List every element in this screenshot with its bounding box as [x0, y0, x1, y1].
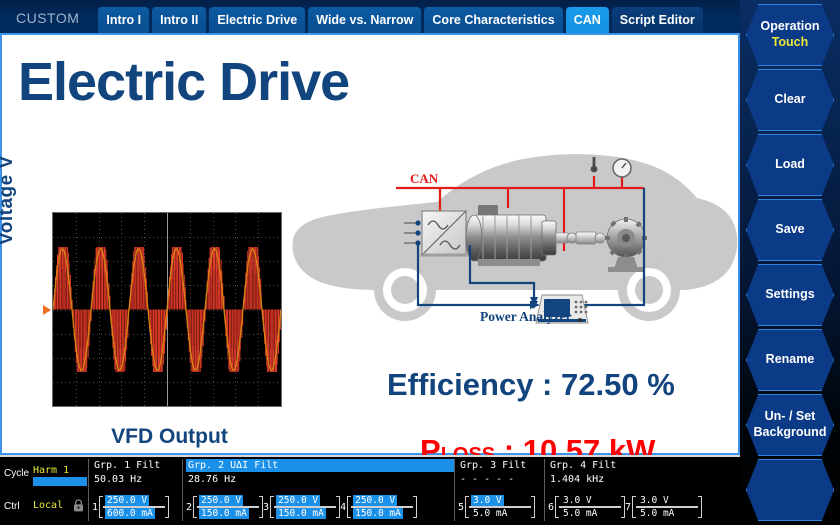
sidebar-button-operation[interactable]: OperationTouch [746, 4, 834, 66]
group-title: Grp. 2 UΔI Filt [186, 459, 454, 472]
ctrl-value[interactable]: Local [33, 500, 63, 511]
sidebar-button-clear[interactable]: Clear [746, 69, 834, 131]
channel[interactable]: 63.0 V5.0 mA [548, 495, 625, 519]
channel[interactable]: 1250.0 V600.0 mA [92, 495, 169, 519]
channel-current: 150.0 mA [353, 508, 403, 519]
tab-wide-vs-narrow[interactable]: Wide vs. Narrow [308, 7, 421, 33]
channel[interactable]: 3250.0 V150.0 mA [263, 495, 340, 519]
inverter [420, 211, 468, 257]
group-frequency: - - - - - [458, 474, 544, 485]
measurement-group[interactable]: Grp. 1 Filt50.03 Hz1250.0 V600.0 mA [92, 459, 182, 485]
channel-current: 600.0 mA [105, 508, 155, 519]
channel-voltage: 3.0 V [561, 495, 594, 506]
motor [466, 205, 568, 266]
scope-display[interactable] [52, 212, 282, 407]
sidebar-button-load[interactable]: Load [746, 134, 834, 196]
channel-voltage: 250.0 V [199, 495, 243, 506]
channel-voltage: 250.0 V [105, 495, 149, 506]
tab-can[interactable]: CAN [566, 7, 609, 33]
channel-current: 5.0 mA [561, 508, 599, 519]
channel-voltage: 250.0 V [276, 495, 320, 506]
status-bar-divider [0, 455, 740, 457]
ctrl-label: Ctrl [4, 501, 20, 512]
trigger-marker-icon [43, 305, 51, 315]
channel-current: 5.0 mA [638, 508, 676, 519]
status-bar: Cycle Harm 1 Ctrl Local Grp. 1 Filt50.03… [0, 455, 740, 525]
channel[interactable]: 73.0 V5.0 mA [625, 495, 702, 519]
sidebar-button-un-set[interactable]: Un- / SetBackground [746, 394, 834, 456]
status-separator [544, 459, 545, 521]
custom-label: CUSTOM [6, 10, 95, 33]
sidebar-button-line1: Operation [760, 19, 819, 35]
group-title: Grp. 4 Filt [548, 459, 736, 472]
lock-icon[interactable] [73, 499, 84, 512]
sidebar-button-line1: Load [775, 157, 805, 173]
channel-bracket-right [698, 496, 702, 518]
channel-current: 150.0 mA [199, 508, 249, 519]
sidebar-button-save[interactable]: Save [746, 199, 834, 261]
channel[interactable]: 2250.0 V150.0 mA [186, 495, 263, 519]
sidebar-button-rename[interactable]: Rename [746, 329, 834, 391]
sidebar-button-settings[interactable]: Settings [746, 264, 834, 326]
channel-current: 150.0 mA [276, 508, 326, 519]
tab-electric-drive[interactable]: Electric Drive [209, 7, 305, 33]
channel-number: 1 [92, 502, 99, 513]
channel-voltage: 3.0 V [471, 495, 504, 506]
channel-number: 3 [263, 502, 270, 513]
app-root: CUSTOM Intro IIntro IIElectric DriveWide… [0, 0, 840, 525]
main-panel: Electric Drive [0, 33, 740, 455]
efficiency-readout: Efficiency : 72.50 % [387, 367, 675, 403]
channel-bracket-right [413, 496, 417, 518]
channel-current: 5.0 mA [471, 508, 509, 519]
sidebar-button-line1: Rename [766, 352, 815, 368]
channel-number: 5 [458, 502, 465, 513]
channel-number: 2 [186, 502, 193, 513]
power-analyzer-label: Power Analyzer [480, 309, 572, 325]
group-frequency: 50.03 Hz [92, 474, 182, 485]
group-title: Grp. 1 Filt [92, 459, 182, 472]
tab-bar: CUSTOM Intro IIntro IIElectric DriveWide… [0, 0, 740, 33]
channel[interactable]: 53.0 V5.0 mA [458, 495, 535, 519]
channel-bracket-right [531, 496, 535, 518]
channel-number: 7 [625, 502, 632, 513]
cycle-value[interactable]: Harm 1 [33, 465, 69, 476]
tab-core-characteristics[interactable]: Core Characteristics [424, 7, 562, 33]
measurement-group[interactable]: Grp. 4 Filt1.404 kHz63.0 V5.0 mA73.0 V5.… [548, 459, 736, 485]
channel-number: 6 [548, 502, 555, 513]
sidebar-button-line1: Settings [765, 287, 814, 303]
dynamometer [605, 217, 647, 272]
cycle-level-bar [33, 477, 87, 486]
tab-intro-i[interactable]: Intro I [98, 7, 149, 33]
status-separator [454, 459, 455, 521]
measurement-group[interactable]: Grp. 2 UΔI Filt28.76 Hz2250.0 V150.0 mA3… [186, 459, 454, 485]
sidebar-button-line1: Save [775, 222, 804, 238]
sidebar: OperationTouchClearLoadSaveSettingsRenam… [740, 0, 840, 525]
status-separator [88, 459, 89, 521]
sidebar-button-line1: Clear [774, 92, 805, 108]
status-separator [182, 459, 183, 521]
group-frequency: 1.404 kHz [548, 474, 736, 485]
channel-number: 4 [340, 502, 347, 513]
channel-voltage: 250.0 V [353, 495, 397, 506]
group-frequency: 28.76 Hz [186, 474, 454, 485]
can-bus-label: CAN [410, 171, 438, 187]
page-title: Electric Drive [18, 51, 349, 113]
channel[interactable]: 4250.0 V150.0 mA [340, 495, 417, 519]
efficiency-value: 72.50 % [561, 367, 675, 402]
cycle-label: Cycle [4, 468, 29, 479]
tab-intro-ii[interactable]: Intro II [152, 7, 206, 33]
scope-y-axis-label: Voltage V [0, 155, 18, 245]
tab-list: Intro IIntro IIElectric DriveWide vs. Na… [98, 7, 702, 33]
channel-bracket-right [165, 496, 169, 518]
sidebar-button-blank[interactable] [746, 459, 834, 521]
sidebar-button-line2: Touch [772, 35, 809, 51]
channel-voltage: 3.0 V [638, 495, 671, 506]
measurement-group[interactable]: Grp. 3 Filt- - - - -53.0 V5.0 mA [458, 459, 544, 485]
efficiency-label: Efficiency : [387, 367, 561, 402]
scope-caption: VFD Output [62, 425, 277, 449]
group-title: Grp. 3 Filt [458, 459, 544, 472]
tab-script-editor[interactable]: Script Editor [612, 7, 703, 33]
sidebar-button-line1: Un- / Set [765, 409, 816, 425]
sidebar-button-line2: Background [754, 425, 827, 441]
sensor-icons [591, 157, 631, 177]
